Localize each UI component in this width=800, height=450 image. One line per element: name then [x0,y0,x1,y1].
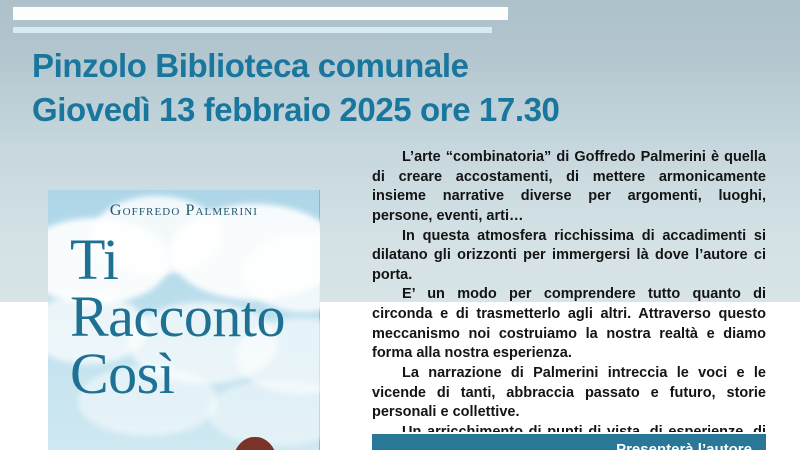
book-cover-image: Goffredo Palmerini Ti Racconto Così [48,190,320,450]
description-paragraph: L’arte “combinatoria” di Goffredo Palmer… [372,148,766,227]
poster-canvas: Pinzolo Biblioteca comunale Giovedì 13 f… [0,0,800,450]
book-title-line-1: Ti [70,232,320,289]
book-cover-title: Ti Racconto Così [70,232,320,402]
description-paragraph: In questa atmosfera ricchissima di accad… [372,227,766,286]
presenter-banner-label: Presenterà l’autore [616,441,752,450]
page-title: Pinzolo Biblioteca comunale Giovedì 13 f… [32,44,732,131]
description-paragraph: La narrazione di Palmerini intreccia le … [372,364,766,423]
description-paragraph: E’ un modo per comprendere tutto quanto … [372,285,766,364]
headline-line-datetime: Giovedì 13 febbraio 2025 ore 17.30 [32,88,732,132]
decorative-rule-white [13,7,508,20]
headline-line-venue: Pinzolo Biblioteca comunale [32,44,732,88]
description-text-block: L’arte “combinatoria” di Goffredo Palmer… [372,148,766,450]
decorative-rule-blue [13,27,492,33]
book-title-line-3: Così [70,346,320,403]
book-title-line-2: Racconto [70,289,320,346]
presenter-banner: Presenterà l’autore [372,434,766,450]
book-cover-author: Goffredo Palmerini [48,202,320,220]
